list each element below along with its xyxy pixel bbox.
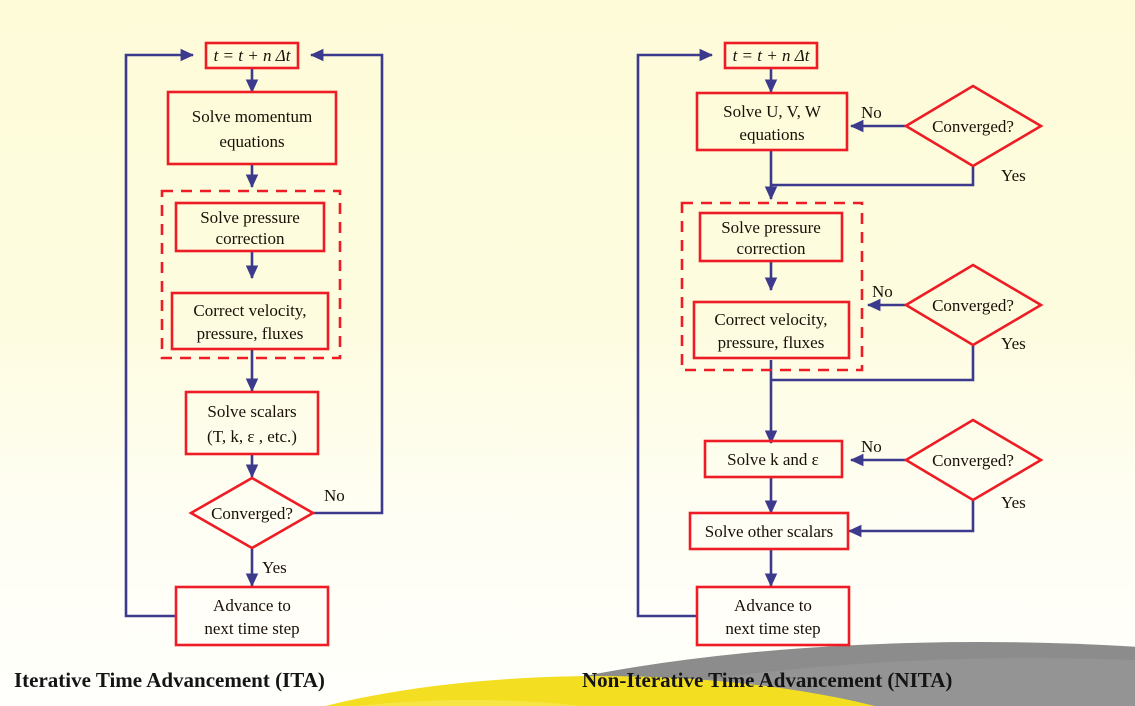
right-node-advance-label-line2: next time step <box>725 619 820 638</box>
right-node-pressure-label-line2: correction <box>737 239 806 258</box>
right-edge-label-yes-2: Yes <box>1001 334 1026 353</box>
left-node-pressure-label-line1: Solve pressure <box>200 208 300 227</box>
right-edge-label-yes-1: Yes <box>1001 166 1026 185</box>
right-node-advance-label-line1: Advance to <box>734 596 812 615</box>
right-node-converged-3-label: Converged? <box>932 451 1014 470</box>
left-edge-no-loop <box>311 55 382 513</box>
left-node-correct-label-line1: Correct velocity, <box>193 301 306 320</box>
right-edge-advance-loop <box>638 55 712 616</box>
left-node-correct-label-line2: pressure, fluxes <box>197 324 304 343</box>
left-node-momentum-label-line1: Solve momentum <box>192 107 312 126</box>
left-node-momentum-label-line2: equations <box>219 132 284 151</box>
left-node-momentum[interactable] <box>168 92 336 164</box>
right-node-correct-label-line1: Correct velocity, <box>714 310 827 329</box>
left-edge-label-yes: Yes <box>262 558 287 577</box>
right-node-uvw-label-line2: equations <box>739 125 804 144</box>
slide-canvas: t = t + n Δt Solve momentum equations So… <box>0 0 1135 706</box>
left-edge-advance-loop <box>126 55 193 616</box>
right-edge-label-yes-3: Yes <box>1001 493 1026 512</box>
right-node-uvw-label-line1: Solve U, V, W <box>723 102 822 121</box>
right-edge-yes-join-1 <box>771 166 973 185</box>
right-node-time-update-label: t = t + n Δt <box>733 46 811 65</box>
right-node-converged-2-label: Converged? <box>932 296 1014 315</box>
left-flowchart-ita: t = t + n Δt Solve momentum equations So… <box>126 43 382 645</box>
left-node-time-update-label: t = t + n Δt <box>214 46 292 65</box>
right-node-converged-1-label: Converged? <box>932 117 1014 136</box>
right-flowchart-nita: t = t + n Δt Solve U, V, W equations Sol… <box>638 43 1041 645</box>
right-node-other-scalars-label: Solve other scalars <box>705 522 833 541</box>
left-node-converged-label: Converged? <box>211 504 293 523</box>
right-edge-yes-join-3 <box>849 500 973 531</box>
right-edge-label-no-3: No <box>861 437 882 456</box>
right-edge-label-no-1: No <box>861 103 882 122</box>
left-node-advance-label-line1: Advance to <box>213 596 291 615</box>
left-node-scalars-label-line2: (T, k, ε , etc.) <box>207 427 297 446</box>
left-edge-label-no: No <box>324 486 345 505</box>
left-node-advance-label-line2: next time step <box>204 619 299 638</box>
right-node-k-epsilon-label: Solve k and ε <box>727 450 819 469</box>
right-edge-label-no-2: No <box>872 282 893 301</box>
left-node-scalars-label-line1: Solve scalars <box>207 402 296 421</box>
right-node-pressure-label-line1: Solve pressure <box>721 218 821 237</box>
left-node-pressure-label-line2: correction <box>216 229 285 248</box>
caption-left-ita: Iterative Time Advancement (ITA) <box>14 668 325 692</box>
flowchart-layer: t = t + n Δt Solve momentum equations So… <box>0 0 1135 706</box>
right-node-correct-label-line2: pressure, fluxes <box>718 333 825 352</box>
caption-right-nita: Non-Iterative Time Advancement (NITA) <box>582 668 952 692</box>
